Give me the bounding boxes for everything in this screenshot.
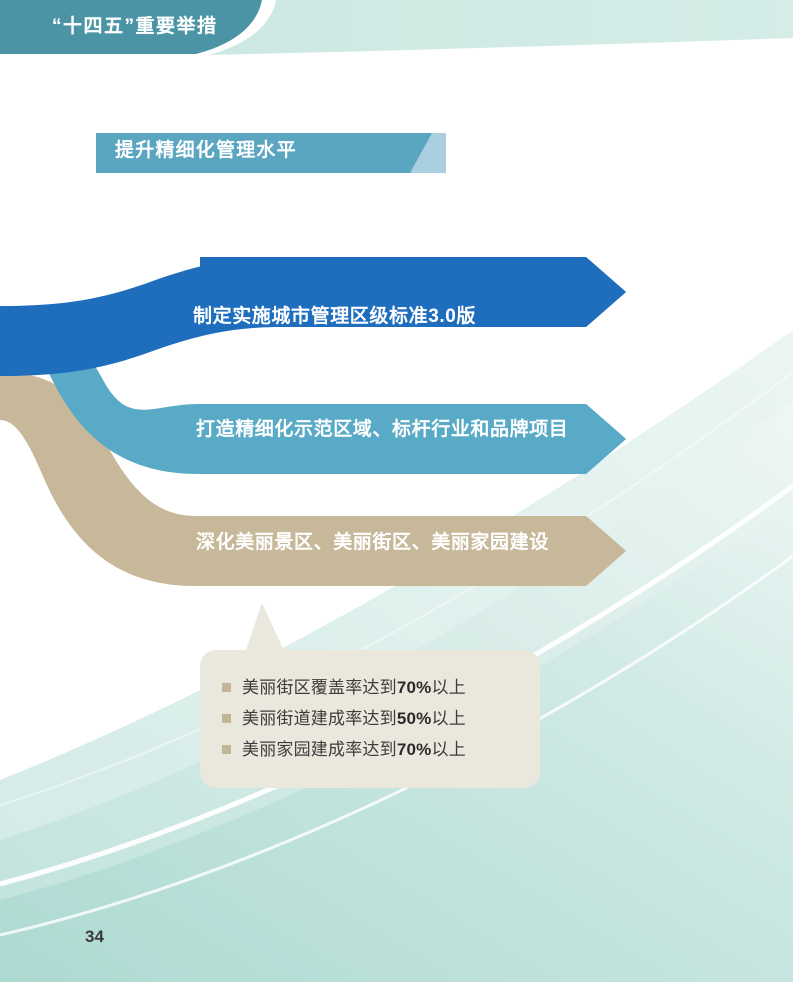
- banner-label-demo-area: 打造精细化示范区域、标杆行业和品牌项目: [196, 420, 568, 439]
- callout-bullet-list: 美丽街区覆盖率达到70%以上 美丽街道建成率达到50%以上 美丽家园建成率达到7…: [222, 672, 522, 765]
- bullet-prefix: 美丽家园建成率达到: [242, 740, 397, 759]
- list-item: 美丽街区覆盖率达到70%以上: [222, 672, 522, 703]
- bullet-square-icon: [222, 714, 231, 723]
- ribbon-teal: [0, 264, 626, 474]
- bullet-value: 70%: [397, 740, 432, 759]
- bullet-suffix: 以上: [431, 678, 465, 697]
- list-item: 美丽街道建成率达到50%以上: [222, 703, 522, 734]
- bullet-value: 70%: [397, 678, 432, 697]
- page-number: 34: [85, 928, 104, 945]
- section-title: 提升精细化管理水平: [115, 141, 297, 160]
- slide-page: “十四五”重要举措 提升精细化管理水平 制定实施城市管理区级标准3.0版 打造精…: [0, 0, 793, 982]
- bullet-value: 50%: [397, 709, 432, 728]
- page-title: “十四五”重要举措: [52, 17, 218, 36]
- bullet-suffix: 以上: [431, 740, 465, 759]
- bullet-suffix: 以上: [431, 709, 465, 728]
- bullet-square-icon: [222, 683, 231, 692]
- bullet-square-icon: [222, 745, 231, 754]
- bullet-prefix: 美丽街道建成率达到: [242, 709, 397, 728]
- bullet-prefix: 美丽街区覆盖率达到: [242, 678, 397, 697]
- banner-label-beautiful-build: 深化美丽景区、美丽街区、美丽家园建设: [196, 533, 549, 552]
- banner-label-standard: 制定实施城市管理区级标准3.0版: [193, 307, 476, 326]
- list-item: 美丽家园建成率达到70%以上: [222, 734, 522, 765]
